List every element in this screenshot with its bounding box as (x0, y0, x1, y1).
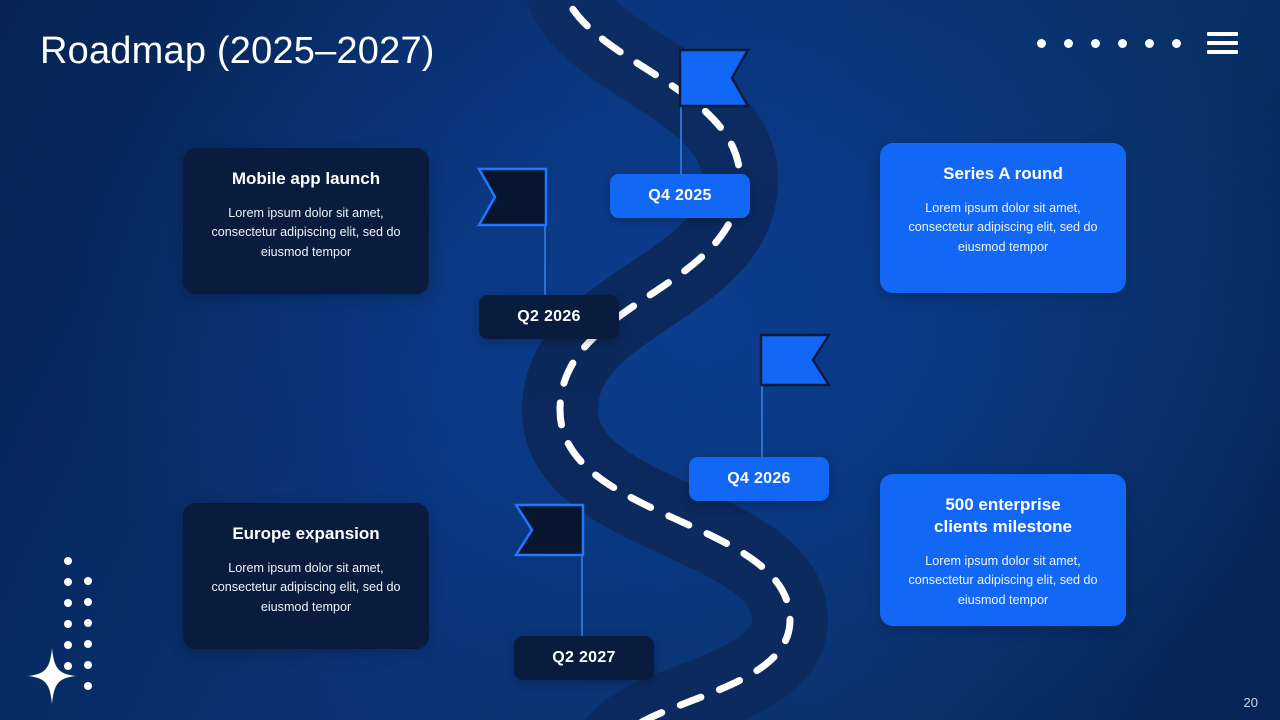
menu-bar (1207, 41, 1238, 45)
grid-dot (64, 557, 72, 565)
outline-flag-left-icon (511, 500, 587, 645)
pager-dot[interactable] (1118, 39, 1127, 48)
grid-dot (84, 682, 92, 690)
roadmap-slide: Roadmap (2025–2027) Mobile app launch Lo… (0, 0, 1280, 720)
pager-dot[interactable] (1145, 39, 1154, 48)
grid-dot (84, 661, 92, 669)
pager-dot[interactable] (1172, 39, 1181, 48)
pager-dot[interactable] (1037, 39, 1046, 48)
card-title: 500 enterprise clients milestone (898, 494, 1108, 538)
grid-dot (84, 577, 92, 585)
pager-dot[interactable] (1091, 39, 1100, 48)
four-point-sparkle-icon (28, 648, 76, 704)
hamburger-menu-icon[interactable] (1207, 32, 1238, 54)
card-title: Series A round (898, 163, 1108, 185)
card-title: Mobile app launch (201, 168, 411, 190)
milestone-card-series-a-round[interactable]: Series A round Lorem ipsum dolor sit ame… (880, 143, 1126, 293)
grid-dot (64, 620, 72, 628)
pager-dots[interactable] (1037, 39, 1181, 48)
pager-dot[interactable] (1064, 39, 1073, 48)
card-body: Lorem ipsum dolor sit amet, consectetur … (201, 204, 411, 263)
card-body: Lorem ipsum dolor sit amet, consectetur … (898, 199, 1108, 258)
header-controls (1037, 32, 1238, 54)
milestone-pill-q4-2026[interactable]: Q4 2026 (689, 457, 829, 501)
road-band (560, 0, 790, 720)
grid-dot (64, 578, 72, 586)
page-number: 20 (1244, 695, 1258, 710)
milestone-card-europe-expansion[interactable]: Europe expansion Lorem ipsum dolor sit a… (183, 503, 429, 649)
milestone-pill-q4-2025[interactable]: Q4 2025 (610, 174, 750, 218)
page-title: Roadmap (2025–2027) (40, 30, 435, 73)
card-body: Lorem ipsum dolor sit amet, consectetur … (898, 552, 1108, 611)
menu-bar (1207, 32, 1238, 36)
milestone-pill-q2-2026[interactable]: Q2 2026 (479, 295, 619, 339)
road-dashed-centerline (560, 0, 790, 720)
grid-dot (64, 599, 72, 607)
bright-flag-right-icon (757, 330, 833, 470)
grid-dot (84, 598, 92, 606)
milestone-pill-q2-2027[interactable]: Q2 2027 (514, 636, 654, 680)
menu-bar (1207, 50, 1238, 54)
milestone-card-mobile-app-launch[interactable]: Mobile app launch Lorem ipsum dolor sit … (183, 148, 429, 294)
grid-dot (84, 619, 92, 627)
outline-flag-left-icon (474, 164, 550, 309)
grid-dot (84, 640, 92, 648)
card-title: Europe expansion (201, 523, 411, 545)
milestone-card-enterprise-clients[interactable]: 500 enterprise clients milestone Lorem i… (880, 474, 1126, 626)
card-body: Lorem ipsum dolor sit amet, consectetur … (201, 559, 411, 618)
